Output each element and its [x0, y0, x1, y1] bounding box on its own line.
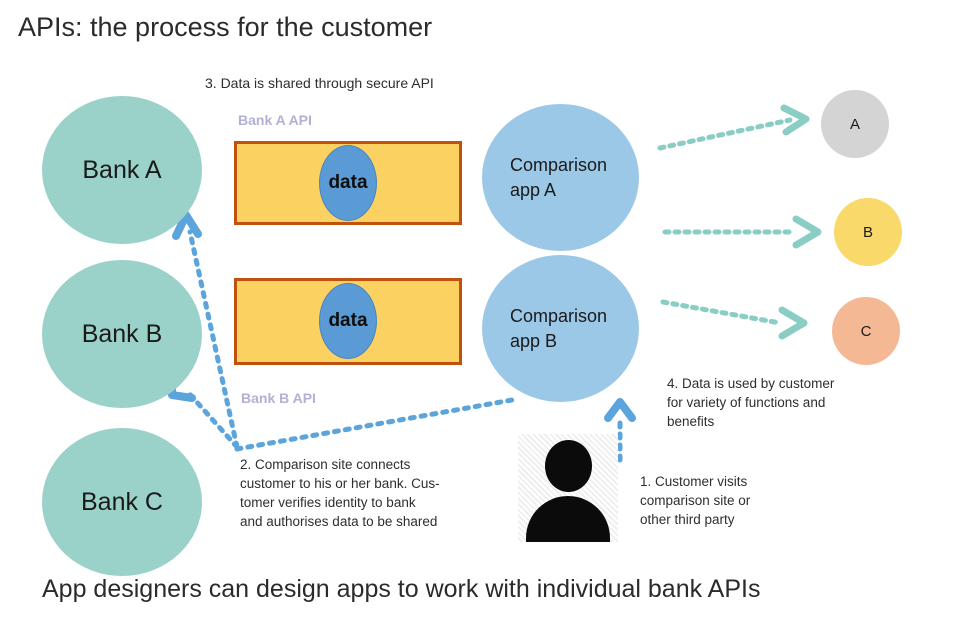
- teal-arrow-to-result-b: [665, 219, 818, 245]
- note-step-3-line1: 3. Data is shared through secure API: [205, 75, 434, 91]
- comparison-app-circle-b[interactable]: Comparison app B: [482, 255, 639, 402]
- note-step-2-line2: customer to his or her bank. Cus-: [240, 474, 485, 493]
- bank-circle-c[interactable]: Bank C: [42, 428, 202, 576]
- note-step-1-line1: 1. Customer visits: [640, 472, 830, 491]
- diagram-canvas: APIs: the process for the customer: [0, 0, 960, 640]
- result-label-b: B: [863, 224, 873, 241]
- result-circle-a[interactable]: A: [821, 90, 889, 158]
- note-step-4-line3: benefits: [667, 412, 877, 431]
- comparison-app-a-line2: app A: [510, 180, 556, 200]
- blue-arrow-to-bank-b: [172, 379, 237, 447]
- data-label-b: data: [328, 310, 367, 332]
- comparison-app-circle-a[interactable]: Comparison app A: [482, 104, 639, 251]
- note-step-4-line1: 4. Data is used by customer: [667, 374, 877, 393]
- note-step-4-line2: for variety of functions and: [667, 393, 877, 412]
- result-circle-b[interactable]: B: [834, 198, 902, 266]
- api-label-bank-b: Bank B API: [241, 390, 316, 406]
- note-step-2-line3: tomer verifies identity to bank: [240, 493, 485, 512]
- note-step-2: 2. Comparison site connects customer to …: [240, 455, 485, 532]
- bank-label-b: Bank B: [82, 320, 163, 349]
- note-step-2-line4: and authorises data to be shared: [240, 512, 485, 531]
- note-step-3: 3. Data is shared through secure API: [205, 74, 434, 94]
- bank-circle-a[interactable]: Bank A: [42, 96, 202, 244]
- result-label-a: A: [850, 116, 860, 133]
- note-step-1: 1. Customer visits comparison site or ot…: [640, 472, 830, 529]
- bank-label-c: Bank C: [81, 488, 163, 517]
- data-ellipse-b: data: [319, 283, 377, 359]
- blue-connector-to-app-b: [237, 400, 512, 449]
- comparison-app-a-line1: Comparison: [510, 155, 607, 175]
- note-step-1-line3: other third party: [640, 510, 830, 529]
- customer-head-shape: [545, 440, 592, 492]
- comparison-app-b-line1: Comparison: [510, 306, 607, 326]
- teal-arrow-to-result-c: [663, 302, 804, 336]
- data-label-a: data: [328, 172, 367, 194]
- bank-circle-b[interactable]: Bank B: [42, 260, 202, 408]
- teal-arrow-to-result-a: [660, 108, 806, 148]
- note-step-2-line1: 2. Comparison site connects: [240, 455, 485, 474]
- data-ellipse-a: data: [319, 145, 377, 221]
- api-label-bank-a: Bank A API: [238, 112, 312, 128]
- result-circle-c[interactable]: C: [832, 297, 900, 365]
- customer-avatar-icon: [518, 434, 618, 542]
- bank-label-a: Bank A: [82, 156, 161, 185]
- note-step-1-line2: comparison site or: [640, 491, 830, 510]
- result-label-c: C: [861, 323, 872, 340]
- customer-body-shape: [526, 496, 610, 542]
- footer-caption: App designers can design apps to work wi…: [42, 575, 760, 604]
- page-title: APIs: the process for the customer: [18, 12, 432, 43]
- note-step-4: 4. Data is used by customer for variety …: [667, 374, 877, 431]
- comparison-app-b-line2: app B: [510, 331, 557, 351]
